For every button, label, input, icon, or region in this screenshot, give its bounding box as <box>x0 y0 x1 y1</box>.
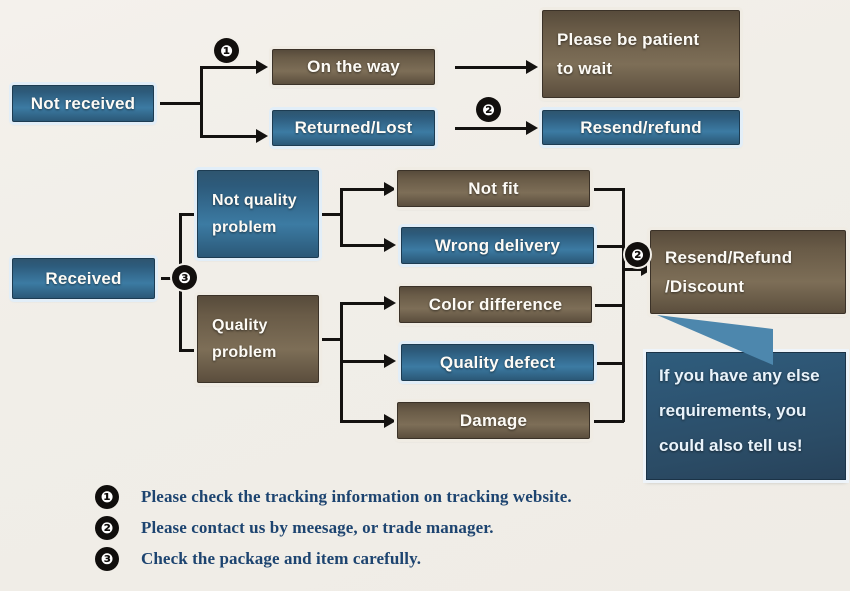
arrowhead-to-colordiff <box>384 296 396 310</box>
connector-notreceived-split-vert <box>200 66 203 138</box>
node-wrong-delivery[interactable]: Wrong delivery <box>401 227 594 264</box>
marker-3-received-branch: ❸ <box>172 265 197 290</box>
node-damage[interactable]: Damage <box>397 402 590 439</box>
callout-box: If you have any else requirements, you c… <box>646 352 846 480</box>
marker-2-right-converge: ❷ <box>625 242 650 267</box>
node-on-the-way-label: On the way <box>307 57 400 77</box>
connector-wrongdelivery-out <box>597 245 624 248</box>
legend-text-2: Please contact us by meesage, or trade m… <box>141 518 494 538</box>
marker-2-top-resend: ❷ <box>476 97 501 122</box>
connector-quality-to-qualitydefect <box>340 360 386 363</box>
callout-text: If you have any else requirements, you c… <box>659 367 833 455</box>
node-quality-problem-line1: Quality <box>198 317 318 335</box>
marker-1-top-branch: ❶ <box>214 38 239 63</box>
connector-notquality-bus <box>340 188 343 247</box>
connector-to-returnedlost <box>200 135 258 138</box>
flowchart-canvas: Not received ❶ On the way Returned/Lost … <box>0 0 850 591</box>
node-not-fit[interactable]: Not fit <box>397 170 590 207</box>
node-returned-lost[interactable]: Returned/Lost <box>272 110 435 146</box>
connector-qualitydefect-out <box>597 362 624 365</box>
connector-notquality-to-wrongdelivery <box>340 244 386 247</box>
node-quality-problem[interactable]: Quality problem <box>197 295 319 383</box>
node-resend-refund-discount-lines: Resend/Refund /Discount <box>651 248 845 297</box>
arrowhead-to-resend <box>526 121 538 135</box>
arrowhead-to-wrongdelivery <box>384 238 396 252</box>
node-received-label: Received <box>45 269 121 289</box>
connector-notfit-out <box>594 188 624 191</box>
callout-line3: could also tell us! <box>659 437 833 455</box>
callout-line2: requirements, you <box>659 402 833 420</box>
node-quality-defect[interactable]: Quality defect <box>401 344 594 381</box>
node-on-the-way[interactable]: On the way <box>272 49 435 85</box>
arrowhead-to-notfit <box>384 182 396 196</box>
legend-number-1-icon: ❶ <box>95 485 119 509</box>
legend-item-2: ❷ Please contact us by meesage, or trade… <box>95 512 715 543</box>
node-not-received[interactable]: Not received <box>12 85 154 122</box>
legend-number-3-icon: ❸ <box>95 547 119 571</box>
node-resend-refund-label: Resend/refund <box>580 118 702 138</box>
connector-notquality-to-notfit <box>340 188 386 191</box>
node-resend-refund-discount-line1: Resend/Refund <box>651 248 845 268</box>
legend-item-3: ❸ Check the package and item carefully. <box>95 543 715 574</box>
node-resend-refund[interactable]: Resend/refund <box>542 110 740 145</box>
node-returned-lost-label: Returned/Lost <box>295 118 413 138</box>
node-please-be-patient-line1: Please be patient <box>543 30 739 50</box>
connector-notquality-trunk <box>322 213 342 216</box>
connector-ontheway-to-patient <box>455 66 528 69</box>
node-wrong-delivery-label: Wrong delivery <box>435 236 560 256</box>
node-not-quality-problem-line1: Not quality <box>198 192 318 210</box>
connector-converge-bus <box>622 188 625 422</box>
node-received[interactable]: Received <box>12 258 155 299</box>
arrowhead-to-patient <box>526 60 538 74</box>
node-not-quality-problem-lines: Not quality problem <box>198 192 318 237</box>
connector-returnedlost-to-resend <box>455 127 528 130</box>
node-please-be-patient-line2: to wait <box>543 59 739 79</box>
connector-quality-to-damage <box>340 420 386 423</box>
node-quality-defect-label: Quality defect <box>440 353 555 373</box>
arrowhead-to-qualitydefect <box>384 354 396 368</box>
legend-number-2-icon: ❷ <box>95 516 119 540</box>
node-color-difference[interactable]: Color difference <box>399 286 592 323</box>
node-not-received-label: Not received <box>31 94 135 114</box>
node-not-fit-label: Not fit <box>468 179 519 199</box>
node-damage-label: Damage <box>460 411 527 431</box>
connector-to-ontheway <box>200 66 258 69</box>
arrowhead-to-returnedlost <box>256 129 268 143</box>
connector-colordiff-out <box>595 304 624 307</box>
arrowhead-to-damage <box>384 414 396 428</box>
connector-damage-out <box>594 420 624 423</box>
node-color-difference-label: Color difference <box>429 295 563 315</box>
node-resend-refund-discount[interactable]: Resend/Refund /Discount <box>650 230 846 314</box>
node-quality-problem-line2: problem <box>198 344 318 362</box>
node-please-be-patient[interactable]: Please be patient to wait <box>542 10 740 98</box>
connector-quality-trunk <box>322 338 342 341</box>
node-resend-refund-discount-line2: /Discount <box>651 277 845 297</box>
node-please-be-patient-lines: Please be patient to wait <box>543 30 739 79</box>
legend-text-1: Please check the tracking information on… <box>141 487 572 507</box>
node-quality-problem-lines: Quality problem <box>198 317 318 362</box>
connector-quality-to-colordiff <box>340 302 386 305</box>
node-not-quality-problem-line2: problem <box>198 219 318 237</box>
legend-text-3: Check the package and item carefully. <box>141 549 421 569</box>
connector-notreceived-trunk <box>160 102 202 105</box>
callout-line1: If you have any else <box>659 367 833 385</box>
node-not-quality-problem[interactable]: Not quality problem <box>197 170 319 258</box>
arrowhead-to-ontheway <box>256 60 268 74</box>
legend: ❶ Please check the tracking information … <box>95 481 715 574</box>
legend-item-1: ❶ Please check the tracking information … <box>95 481 715 512</box>
